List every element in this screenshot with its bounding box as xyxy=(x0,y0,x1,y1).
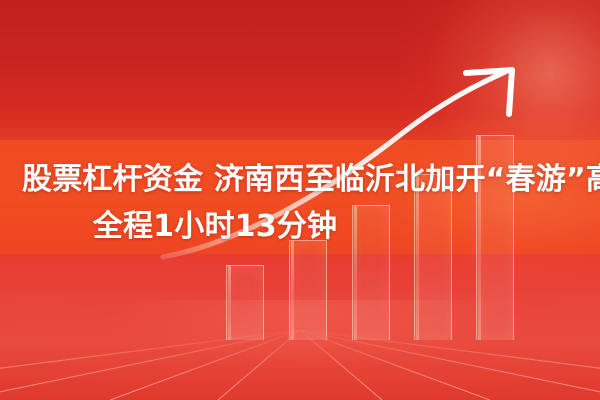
headline-line-1: 股票杠杆资金 济南西至临沂北加开“春游”高铁， xyxy=(0,156,600,203)
promo-banner: 股票杠杆资金 济南西至临沂北加开“春游”高铁， 全程1小时13分钟 xyxy=(0,0,600,400)
headline-line-2: 全程1小时13分钟 xyxy=(0,203,600,250)
background-band-top xyxy=(0,0,600,140)
page-title: 股票杠杆资金 济南西至临沂北加开“春游”高铁， 全程1小时13分钟 xyxy=(0,156,600,250)
background-band-bottom xyxy=(0,254,600,400)
